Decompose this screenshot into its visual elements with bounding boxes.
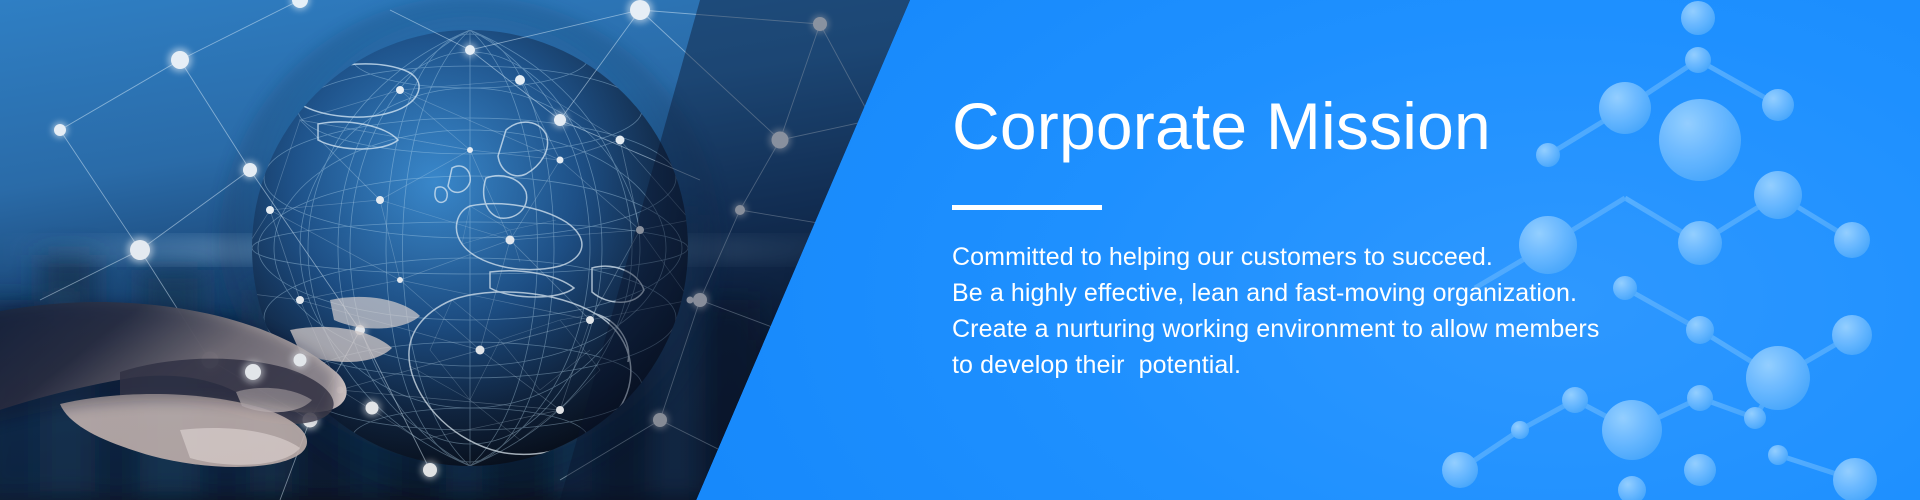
title-underline-divider (952, 205, 1102, 210)
mission-text-block: Corporate Mission Committed to helping o… (952, 92, 1732, 383)
page-title: Corporate Mission (952, 92, 1732, 161)
mission-line-2: Be a highly effective, lean and fast-mov… (952, 275, 1732, 311)
corporate-mission-banner: Corporate Mission Committed to helping o… (0, 0, 1920, 500)
mission-statement-list: Committed to helping our customers to su… (952, 239, 1732, 383)
mission-line-4: to develop their potential. (952, 347, 1732, 383)
mission-line-1: Committed to helping our customers to su… (952, 239, 1732, 275)
mission-line-3: Create a nurturing working environment t… (952, 311, 1732, 347)
